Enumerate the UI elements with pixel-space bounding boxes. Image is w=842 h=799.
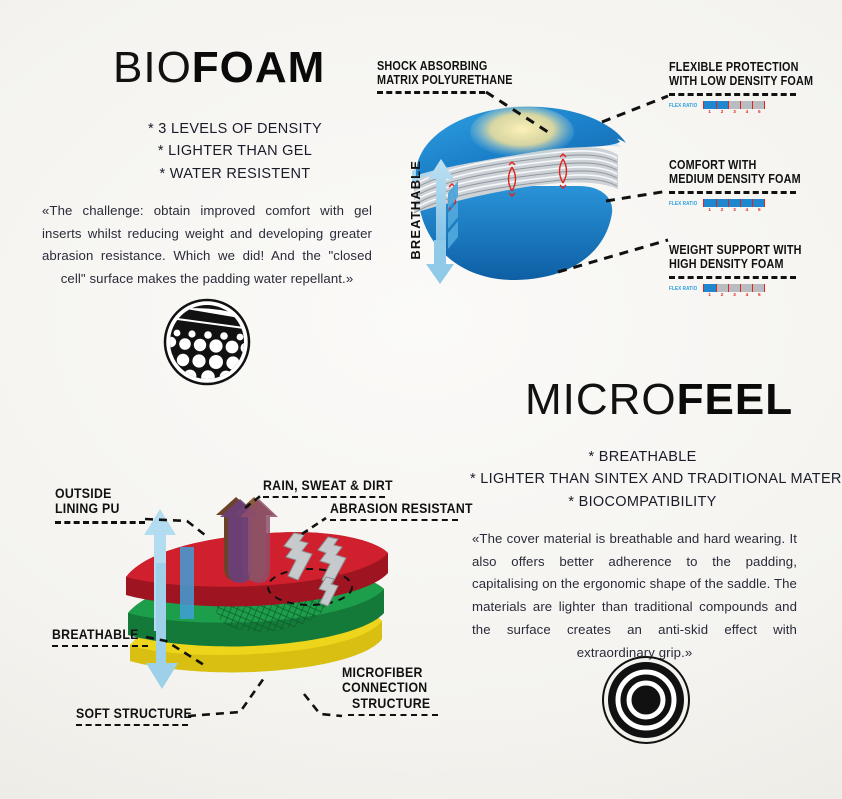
callout-medium-density-rule — [669, 191, 796, 194]
biofoam-title-thin: BIO — [113, 43, 192, 92]
callout-shock-absorbing-line2: MATRIX POLYURETHANE — [377, 73, 523, 87]
callout-low-density-rule — [669, 93, 796, 96]
tick: 1 — [703, 293, 715, 298]
callout-shock-absorbing: SHOCK ABSORBING MATRIX POLYURETHANE — [377, 59, 547, 94]
label-rain-sweat-dirt-rule — [263, 496, 385, 498]
callout-high-density-rule — [669, 276, 796, 279]
breathable-vertical-label: BREATHABLE — [408, 160, 423, 260]
tick: 1 — [703, 110, 715, 115]
tick: 4 — [741, 208, 753, 213]
breathable-arrows-icon — [424, 145, 460, 275]
tick: 5 — [753, 208, 765, 213]
closed-cell-icon — [163, 298, 251, 386]
flex-ratio-bar-medium — [703, 199, 765, 207]
breathable-down-arrow-icon — [424, 240, 460, 286]
tick: 3 — [728, 110, 740, 115]
tick: 1 — [703, 208, 715, 213]
tick: 4 — [741, 293, 753, 298]
label-soft-structure-rule — [76, 724, 188, 726]
callout-low-density-line1: FLEXIBLE PROTECTION — [669, 60, 820, 74]
biofoam-paragraph: «The challenge: obtain improved comfort … — [42, 200, 372, 291]
label-soft-structure: SOFT STRUCTURE — [76, 706, 208, 726]
flex-ratio-ticks-low: 1 2 3 4 5 — [703, 110, 765, 115]
label-abrasion-resistant: ABRASION RESISTANT — [330, 501, 492, 521]
callout-medium-density-line2: MEDIUM DENSITY FOAM — [669, 172, 820, 186]
microfeel-bullet-1: * LIGHTER THAN SINTEX AND TRADITIONAL MA… — [470, 468, 815, 490]
tick: 2 — [716, 293, 728, 298]
leader-line-medium-density — [604, 185, 672, 207]
flex-ratio-label-low: FLEX RATIO — [669, 103, 697, 109]
tick: 2 — [716, 208, 728, 213]
label-outside-lining-rule — [55, 521, 145, 524]
biofoam-bullet-2: * WATER RESISTENT — [80, 163, 390, 185]
biofoam-title: BIOFOAM — [113, 46, 325, 90]
callout-high-density: WEIGHT SUPPORT WITH HIGH DENSITY FOAM FL… — [669, 243, 842, 297]
label-rain-sweat-dirt: RAIN, SWEAT & DIRT — [263, 478, 410, 498]
flex-ratio-label-medium: FLEX RATIO — [669, 201, 697, 207]
microfeel-paragraph: «The cover material is breathable and ha… — [472, 528, 797, 664]
flex-ratio-ticks-high: 1 2 3 4 5 — [703, 293, 765, 298]
tick: 5 — [753, 293, 765, 298]
callout-high-density-line1: WEIGHT SUPPORT WITH — [669, 243, 820, 257]
microfeel-title-thin: MICRO — [525, 375, 677, 424]
biofoam-bullets: * 3 LEVELS OF DENSITY * LIGHTER THAN GEL… — [80, 118, 390, 185]
callout-low-density-line2: WITH LOW DENSITY FOAM — [669, 74, 820, 88]
label-rain-sweat-dirt-text: RAIN, SWEAT & DIRT — [263, 478, 393, 493]
flex-ratio-meter-low: FLEX RATIO 1 2 3 4 5 — [669, 101, 842, 114]
flex-ratio-bar-low — [703, 101, 765, 109]
label-breathable: BREATHABLE — [52, 627, 150, 647]
tick: 2 — [716, 110, 728, 115]
callout-shock-absorbing-rule — [377, 91, 485, 94]
biofoam-title-bold: FOAM — [192, 43, 326, 92]
label-microfiber-line1: MICROFIBER — [342, 665, 429, 680]
label-outside-lining-line2: LINING PU — [55, 501, 134, 516]
tick: 3 — [728, 208, 740, 213]
leader-line-shock-absorbing — [484, 90, 554, 136]
label-outside-lining: OUTSIDE LINING PU — [55, 486, 145, 524]
leader-line-outside-lining — [143, 515, 209, 539]
flex-ratio-bar-high — [703, 284, 765, 292]
callout-shock-absorbing-line1: SHOCK ABSORBING — [377, 59, 523, 73]
leader-line-high-density — [556, 232, 672, 278]
label-soft-structure-text: SOFT STRUCTURE — [76, 706, 192, 721]
biofoam-bullet-1: * LIGHTER THAN GEL — [80, 140, 390, 162]
leader-line-abrasion — [300, 514, 332, 538]
callout-low-density: FLEXIBLE PROTECTION WITH LOW DENSITY FOA… — [669, 60, 842, 114]
tick: 3 — [728, 293, 740, 298]
label-outside-lining-line1: OUTSIDE — [55, 486, 134, 501]
flex-ratio-ticks-medium: 1 2 3 4 5 — [703, 208, 765, 213]
tick: 5 — [753, 110, 765, 115]
leader-line-microfiber — [300, 690, 346, 724]
label-abrasion-resistant-text: ABRASION RESISTANT — [330, 501, 473, 516]
microfeel-bullet-0: * BREATHABLE — [470, 446, 815, 468]
microfeel-title-bold: FEEL — [677, 375, 793, 424]
biofoam-bullet-0: * 3 LEVELS OF DENSITY — [80, 118, 390, 140]
callout-medium-density: COMFORT WITH MEDIUM DENSITY FOAM FLEX RA… — [669, 158, 842, 212]
label-microfiber-rule — [348, 714, 438, 716]
foam-cutaway-illustration — [400, 85, 640, 300]
label-abrasion-resistant-rule — [330, 519, 458, 521]
leader-line-low-density — [600, 92, 672, 126]
label-microfiber-line3: STRUCTURE — [352, 696, 430, 711]
flex-ratio-label-high: FLEX RATIO — [669, 286, 697, 292]
label-microfiber-line2: CONNECTION — [342, 680, 429, 695]
flex-ratio-meter-medium: FLEX RATIO 1 2 3 4 5 — [669, 199, 842, 212]
label-breathable-rule — [52, 645, 148, 647]
microfeel-bullet-2: * BIOCOMPATIBILITY — [470, 491, 815, 513]
label-microfiber-connection-structure: MICROFIBER CONNECTION STRUCTURE — [342, 665, 441, 716]
label-breathable-text: BREATHABLE — [52, 627, 139, 642]
microfeel-bullets: * BREATHABLE * LIGHTER THAN SINTEX AND T… — [470, 446, 815, 513]
flex-ratio-meter-high: FLEX RATIO 1 2 3 4 5 — [669, 284, 842, 297]
callout-high-density-line2: HIGH DENSITY FOAM — [669, 257, 820, 271]
tick: 4 — [741, 110, 753, 115]
leader-line-breathable — [144, 635, 210, 669]
callout-medium-density-line1: COMFORT WITH — [669, 158, 820, 172]
concentric-rings-icon — [601, 655, 691, 745]
microfeel-title: MICROFEEL — [525, 378, 793, 422]
infographic-page: BIOFOAM * 3 LEVELS OF DENSITY * LIGHTER … — [0, 0, 842, 799]
